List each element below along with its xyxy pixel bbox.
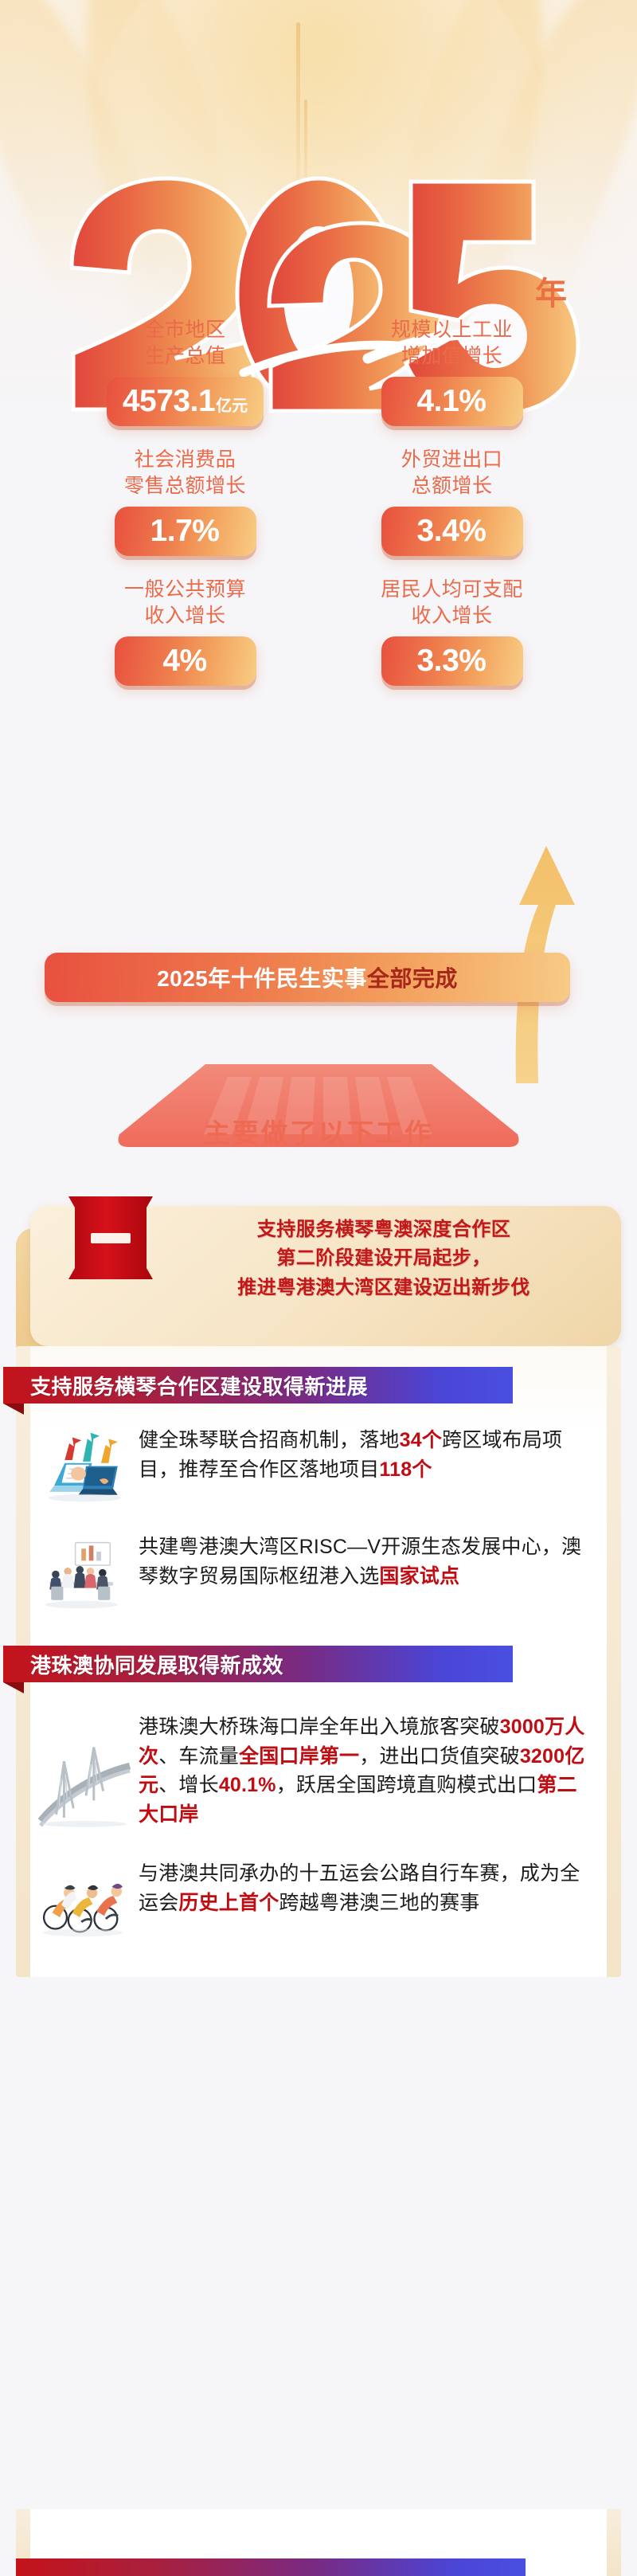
banner-text-accent: 全部完成 xyxy=(367,961,458,993)
section-number-scroll-icon xyxy=(64,1195,158,1290)
stat-pill: 3.3% xyxy=(381,636,523,686)
subsection-heading-wrap: 港珠澳协同发展取得新成效 xyxy=(3,1646,607,1687)
subsection-heading-wrap: 支持服务横琴合作区建设取得新进展 xyxy=(3,1367,607,1408)
item-text: 共建粤港澳大湾区RISC—V开源生态发展中心，澳琴数字贸易国际枢纽港入选国家试点 xyxy=(139,1533,586,1591)
stat-label: 社会消费品 零售总额增长 xyxy=(88,447,283,499)
item-text: 港珠澳大桥珠海口岸全年出入境旅客突破3000万人次、车流量全国口岸第一，进出口货… xyxy=(139,1713,586,1829)
stat-label: 居民人均可支配 收入增长 xyxy=(354,577,549,629)
stat-cell: 规模以上工业 增加值增长 4.1% xyxy=(354,317,549,426)
stat-label: 全市地区 生产总值 xyxy=(88,317,283,370)
stat-value: 4.1% xyxy=(417,377,487,426)
section-one: 支持服务横琴粤澳深度合作区 第二阶段建设开局起步， 推进粤港澳大湾区建设迈出新步… xyxy=(0,1195,637,1977)
hero-section: 年 全市地区 生产总值 4573.1 亿元 规模以上工业 增加值增长 4.1% … xyxy=(0,0,637,1195)
stat-value: 3.4% xyxy=(417,507,487,556)
ribbon-fold-icon xyxy=(3,1682,24,1693)
work-section-title: 主要做了以下工作 xyxy=(0,1112,637,1150)
section-body: 支持服务横琴合作区建设取得新进展 xyxy=(16,1346,621,1977)
stat-value: 4573.1 xyxy=(123,377,215,426)
stat-pill: 4.1% xyxy=(381,377,523,426)
cyclists-icon xyxy=(37,1859,132,1942)
ribbon-fold-icon xyxy=(3,1403,24,1415)
stat-cell: 一般公共预算 收入增长 4% xyxy=(88,577,283,686)
stat-pill: 4% xyxy=(115,636,256,686)
stat-cell: 外贸进出口 总额增长 3.4% xyxy=(354,447,549,556)
subsection-heading-text: 支持服务横琴合作区建设取得新进展 xyxy=(30,1371,368,1400)
bridge-icon xyxy=(37,1713,132,1832)
stat-pill: 4573.1 亿元 xyxy=(107,377,264,426)
stat-label: 一般公共预算 收入增长 xyxy=(88,577,283,629)
meeting-table-icon xyxy=(37,1533,132,1615)
item-text: 健全珠琴联合招商机制，落地34个跨区域布局项目，推荐至合作区落地项目118个 xyxy=(139,1426,586,1484)
stat-value: 4% xyxy=(162,636,206,686)
item-text: 与港澳共同承办的十五运会公路自行车赛，成为全运会历史上首个跨越粤港澳三地的赛事 xyxy=(139,1859,586,1917)
list-item: 健全珠琴联合招商机制，落地34个跨区域布局项目，推荐至合作区落地项目118个 xyxy=(30,1413,607,1520)
stats-row: 一般公共预算 收入增长 4% 居民人均可支配 收入增长 3.3% xyxy=(0,577,637,686)
section-header: 支持服务横琴粤澳深度合作区 第二阶段建设开局起步， 推进粤港澳大湾区建设迈出新步… xyxy=(16,1195,621,1346)
stat-cell: 社会消费品 零售总额增长 1.7% xyxy=(88,447,283,556)
stat-pill: 1.7% xyxy=(115,507,256,556)
laptop-chart-icon xyxy=(37,1426,132,1509)
year-unit-label: 年 xyxy=(535,268,567,314)
subsection-heading-text: 港珠澳协同发展取得新成效 xyxy=(30,1650,283,1679)
stat-value: 1.7% xyxy=(150,507,220,556)
list-item: 共建粤港澳大湾区RISC—V开源生态发展中心，澳琴数字贸易国际枢纽港入选国家试点 xyxy=(30,1520,607,1627)
growth-arrow-icon xyxy=(487,749,591,1083)
section-title: 支持服务横琴粤澳深度合作区 第二阶段建设开局起步， 推进粤港澳大湾区建设迈出新步… xyxy=(166,1216,602,1302)
section-body-inner: 支持服务横琴合作区建设取得新进展 xyxy=(30,1346,607,1977)
list-item: 与港澳共同承办的十五运会公路自行车赛，成为全运会历史上首个跨越粤港澳三地的赛事 xyxy=(30,1843,607,1953)
stats-row: 社会消费品 零售总额增长 1.7% 外贸进出口 总额增长 3.4% xyxy=(0,447,637,556)
stats-grid: 全市地区 生产总值 4573.1 亿元 规模以上工业 增加值增长 4.1% 社会… xyxy=(0,317,637,707)
subsection-heading-bar: 港珠澳协同发展取得新成效 xyxy=(3,1646,513,1682)
stat-label: 规模以上工业 增加值增长 xyxy=(354,317,549,370)
banner-text-primary: 2025年十件民生实事 xyxy=(157,961,367,993)
next-subsection-heading-bar xyxy=(16,2558,526,2576)
stat-cell: 全市地区 生产总值 4573.1 亿元 xyxy=(88,317,283,426)
stat-pill: 3.4% xyxy=(381,507,523,556)
stat-unit: 亿元 xyxy=(216,393,248,416)
stat-value: 3.3% xyxy=(417,636,487,686)
list-item: 港珠澳大桥珠海口岸全年出入境旅客突破3000万人次、车流量全国口岸第一，进出口货… xyxy=(30,1692,607,1843)
stat-label: 外贸进出口 总额增长 xyxy=(354,447,549,499)
livelihood-banner: 2025年十件民生实事 全部完成 xyxy=(45,953,570,1002)
tower-spire-icon xyxy=(296,22,300,194)
subsection-heading-bar: 支持服务横琴合作区建设取得新进展 xyxy=(3,1367,513,1403)
stats-row: 全市地区 生产总值 4573.1 亿元 规模以上工业 增加值增长 4.1% xyxy=(0,317,637,426)
stat-cell: 居民人均可支配 收入增长 3.3% xyxy=(354,577,549,686)
